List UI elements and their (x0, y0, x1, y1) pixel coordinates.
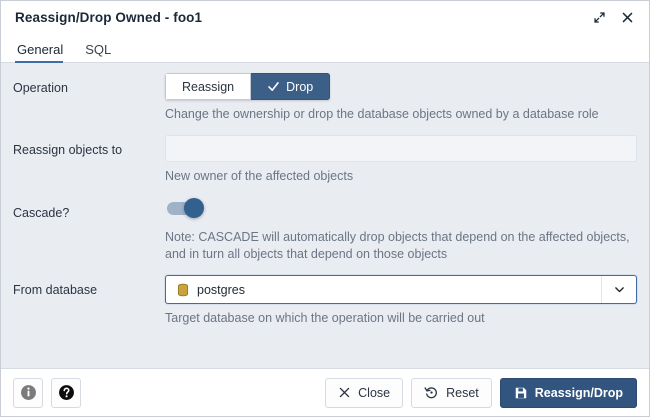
operation-toggle-group: Reassign Drop (165, 73, 330, 100)
tab-sql[interactable]: SQL (83, 43, 121, 62)
footer-left-buttons (13, 378, 81, 408)
close-button[interactable]: Close (325, 378, 403, 408)
field-row-reassign-to: Reassign objects to New owner of the aff… (13, 135, 637, 185)
close-icon[interactable] (615, 6, 639, 30)
database-icon (176, 283, 190, 297)
dialog-tabbar: General SQL (1, 34, 649, 63)
from-database-help-text: Target database on which the operation w… (165, 310, 635, 327)
field-row-operation: Operation Reassign Drop Ch (13, 73, 637, 123)
from-database-label: From database (13, 275, 165, 297)
cascade-toggle-switch[interactable] (165, 198, 205, 218)
operation-option-reassign-label: Reassign (182, 80, 234, 94)
operation-option-drop-label: Drop (286, 80, 313, 94)
operation-option-drop[interactable]: Drop (251, 73, 330, 100)
close-button-label: Close (358, 386, 390, 400)
dialog-titlebar: Reassign/Drop Owned - foo1 (1, 1, 649, 34)
footer-right-buttons: Close Reset (325, 378, 637, 408)
maximize-diagonal-icon[interactable] (587, 6, 611, 30)
from-database-select[interactable]: postgres (165, 275, 637, 304)
help-icon (58, 384, 75, 401)
operation-option-reassign[interactable]: Reassign (165, 73, 251, 100)
from-database-selected-value: postgres (197, 283, 245, 297)
operation-help-text: Change the ownership or drop the databas… (165, 106, 635, 123)
info-button[interactable] (13, 378, 43, 408)
chevron-down-icon[interactable] (601, 276, 636, 303)
cascade-help-text: Note: CASCADE will automatically drop ob… (165, 229, 635, 263)
x-icon (338, 386, 351, 399)
titlebar-buttons (587, 6, 639, 30)
from-database-selected-value-wrap: postgres (176, 283, 601, 297)
reset-button-label: Reset (446, 386, 479, 400)
dialog-footer: Close Reset (1, 368, 649, 416)
submit-button[interactable]: Reassign/Drop (500, 378, 637, 408)
field-row-from-database: From database postgres (13, 275, 637, 327)
dialog-title: Reassign/Drop Owned - foo1 (15, 10, 587, 25)
field-row-cascade: Cascade? Note: CASCADE will automaticall… (13, 198, 637, 263)
cascade-switch-thumb (184, 198, 204, 218)
reset-button[interactable]: Reset (411, 378, 492, 408)
operation-field: Reassign Drop Change the ownership or dr… (165, 73, 637, 123)
save-icon (514, 386, 528, 400)
reassign-drop-owned-dialog: Reassign/Drop Owned - foo1 General SQL (0, 0, 650, 417)
cascade-label: Cascade? (13, 198, 165, 220)
help-button[interactable] (51, 378, 81, 408)
reassign-to-field: New owner of the affected objects (165, 135, 637, 185)
tab-general[interactable]: General (15, 43, 73, 62)
check-icon (267, 80, 280, 93)
info-icon (20, 384, 37, 401)
reassign-to-help-text: New owner of the affected objects (165, 168, 635, 185)
dialog-form: Operation Reassign Drop Ch (1, 63, 649, 368)
from-database-field: postgres Target database on which the op… (165, 275, 637, 327)
submit-button-label: Reassign/Drop (535, 386, 623, 400)
cascade-field: Note: CASCADE will automatically drop ob… (165, 198, 637, 263)
reassign-to-label: Reassign objects to (13, 135, 165, 157)
reassign-to-input (165, 135, 637, 162)
operation-label: Operation (13, 73, 165, 95)
reset-icon (424, 385, 439, 400)
